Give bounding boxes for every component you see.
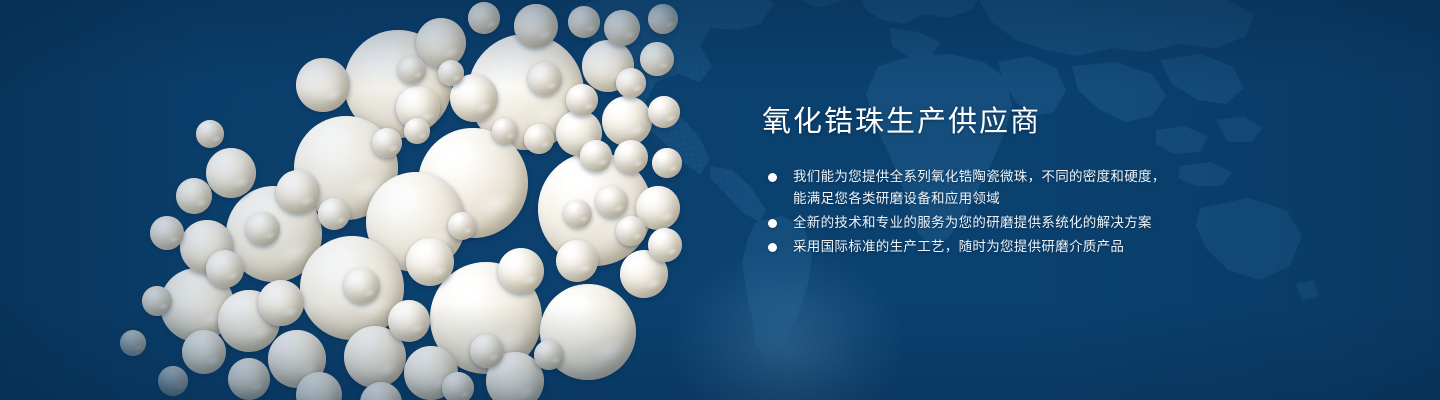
feature-list: 我们能为您提供全系列氧化锆陶瓷微珠，不同的密度和硬度， 能满足您各类研磨设备和应… [762, 166, 1322, 258]
list-item-line: 能满足您各类研磨设备和应用领域 [793, 188, 1322, 210]
page-title: 氧化锆珠生产供应商 [762, 104, 1322, 140]
hero-banner: 氧化锆珠生产供应商 我们能为您提供全系列氧化锆陶瓷微珠，不同的密度和硬度， 能满… [0, 0, 1440, 400]
list-item: 我们能为您提供全系列氧化锆陶瓷微珠，不同的密度和硬度， 能满足您各类研磨设备和应… [762, 166, 1322, 210]
list-item-line: 我们能为您提供全系列氧化锆陶瓷微珠，不同的密度和硬度， [793, 166, 1322, 188]
list-item: 采用国际标准的生产工艺，随时为您提供研磨介质产品 [762, 236, 1322, 258]
banner-copy: 氧化锆珠生产供应商 我们能为您提供全系列氧化锆陶瓷微珠，不同的密度和硬度， 能满… [762, 104, 1322, 260]
bullet-dot-icon [768, 173, 777, 182]
list-item: 全新的技术和专业的服务为您的研磨提供系统化的解决方案 [762, 212, 1322, 234]
bullet-dot-icon [768, 243, 777, 252]
list-item-line: 全新的技术和专业的服务为您的研磨提供系统化的解决方案 [793, 212, 1322, 234]
bullet-dot-icon [768, 219, 777, 228]
list-item-line: 采用国际标准的生产工艺，随时为您提供研磨介质产品 [793, 236, 1322, 258]
